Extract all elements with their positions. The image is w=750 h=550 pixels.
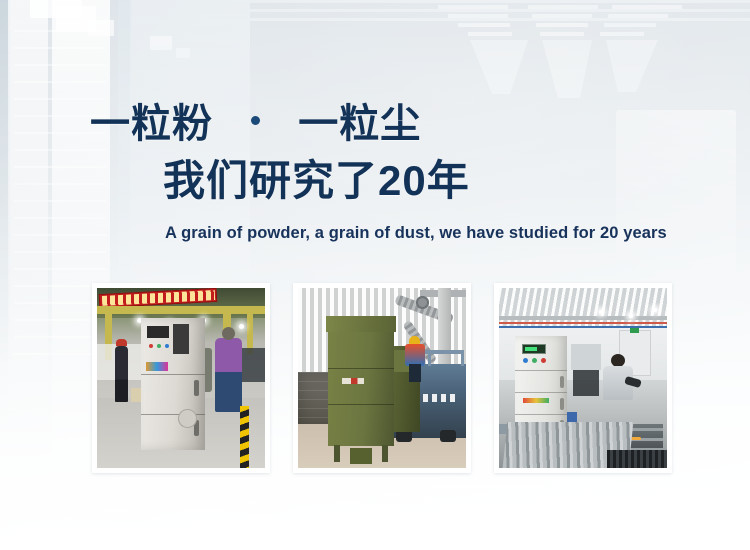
photo-card-2[interactable] (293, 283, 471, 473)
title-line-1: 一粒粉 一粒尘 (0, 104, 750, 144)
photo-white-dust-collector-factory (97, 288, 265, 468)
title-line-2: 我们研究了20年 (0, 160, 750, 202)
background-crate-3 (88, 20, 114, 36)
title-segment-dust: 一粒尘 (298, 102, 421, 146)
background-roof-truss-icon (410, 0, 710, 114)
background-crate-5 (176, 48, 190, 58)
background-crate-1 (30, 0, 82, 18)
photo-white-cabinet-collector-workshop (499, 288, 667, 468)
photo-card-3[interactable] (494, 283, 672, 473)
headline-block: 一粒粉 一粒尘 我们研究了20年 A grain of powder, a gr… (0, 104, 750, 243)
title-segment-powder: 一粒粉 (90, 102, 213, 146)
dot-separator-icon (251, 116, 260, 125)
photo-olive-dust-collector-scissor-lift (298, 288, 466, 468)
background-crate-2 (56, 6, 96, 32)
subtitle-english: A grain of powder, a grain of dust, we h… (0, 224, 750, 243)
photo-gallery (92, 283, 672, 475)
background-crate-4 (150, 36, 172, 50)
promo-banner: 一粒粉 一粒尘 我们研究了20年 A grain of powder, a gr… (0, 0, 750, 550)
background-ceiling-strips (250, 0, 750, 26)
photo-card-1[interactable] (92, 283, 270, 473)
